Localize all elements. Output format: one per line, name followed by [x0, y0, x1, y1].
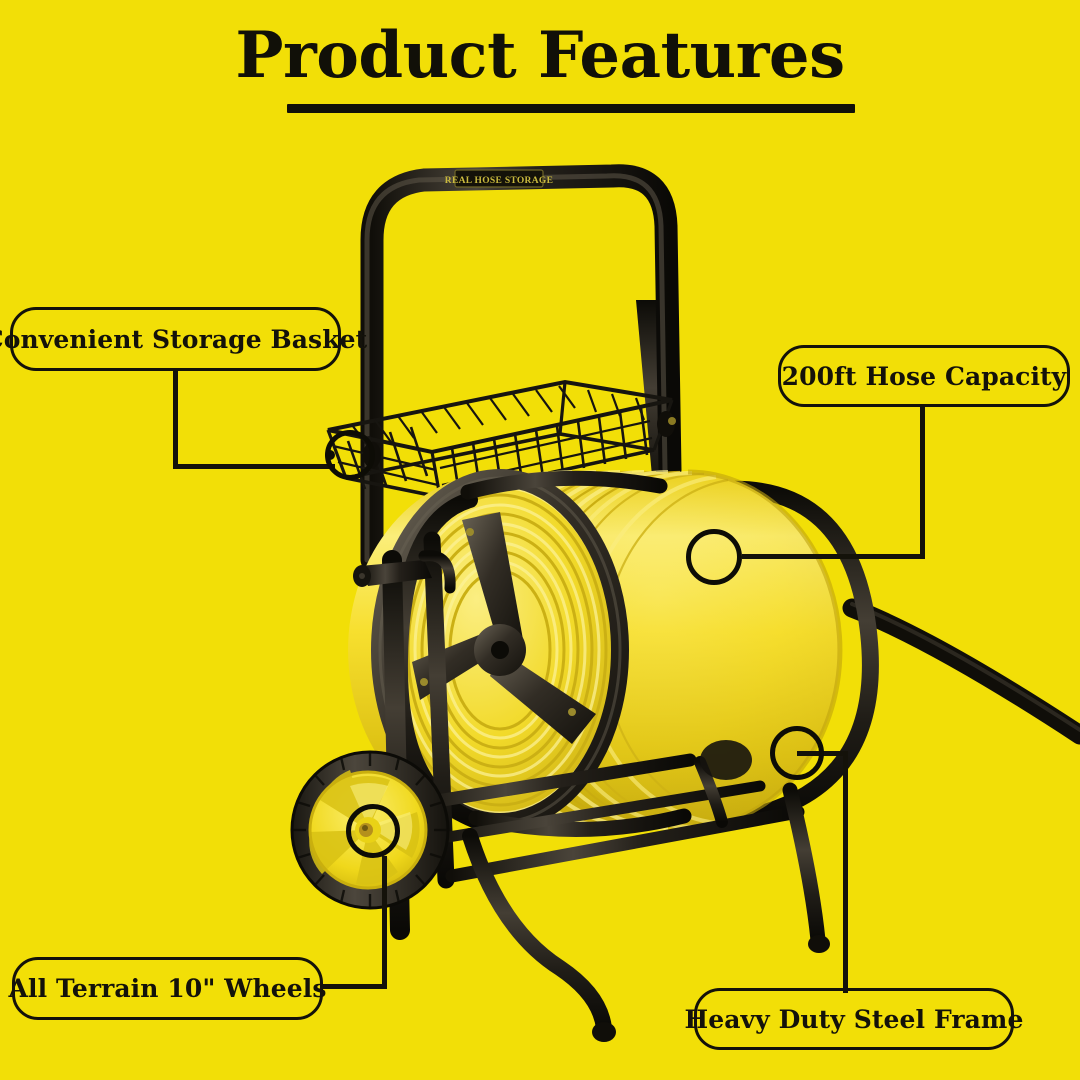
callout-marker-steel-frame	[770, 726, 824, 780]
callout-marker-all-terrain-wheels	[346, 804, 400, 858]
title-underline	[287, 104, 855, 113]
handle-badge: REAL HOSE STORAGE	[445, 170, 553, 187]
leader-line-capacity-horizontal	[742, 554, 925, 559]
callout-steel-frame[interactable]: Heavy Duty Steel Frame	[694, 988, 1014, 1050]
page-title: Product Features	[0, 22, 1080, 89]
product-image: REAL HOSE STORAGE	[0, 0, 1080, 1080]
leader-line-capacity-vertical	[920, 406, 925, 558]
leader-line-basket-vertical	[173, 369, 178, 469]
callout-marker-hose-capacity	[686, 529, 742, 585]
callout-marker-storage-basket	[325, 430, 375, 480]
leader-line-wheels-horizontal	[323, 984, 387, 989]
callout-hose-capacity[interactable]: 200ft Hose Capacity	[778, 345, 1070, 407]
leader-line-wheels-vertical	[382, 856, 387, 988]
infographic-canvas: REAL HOSE STORAGE	[0, 0, 1080, 1080]
leader-line-frame-vertical	[843, 751, 848, 993]
svg-text:REAL HOSE STORAGE: REAL HOSE STORAGE	[445, 176, 553, 186]
callout-all-terrain-wheels[interactable]: All Terrain 10" Wheels	[12, 957, 323, 1020]
callout-storage-basket[interactable]: Convenient Storage Basket	[10, 307, 341, 371]
page-title-wrap: Product Features	[0, 22, 1080, 89]
leader-line-basket-horizontal	[173, 464, 335, 469]
